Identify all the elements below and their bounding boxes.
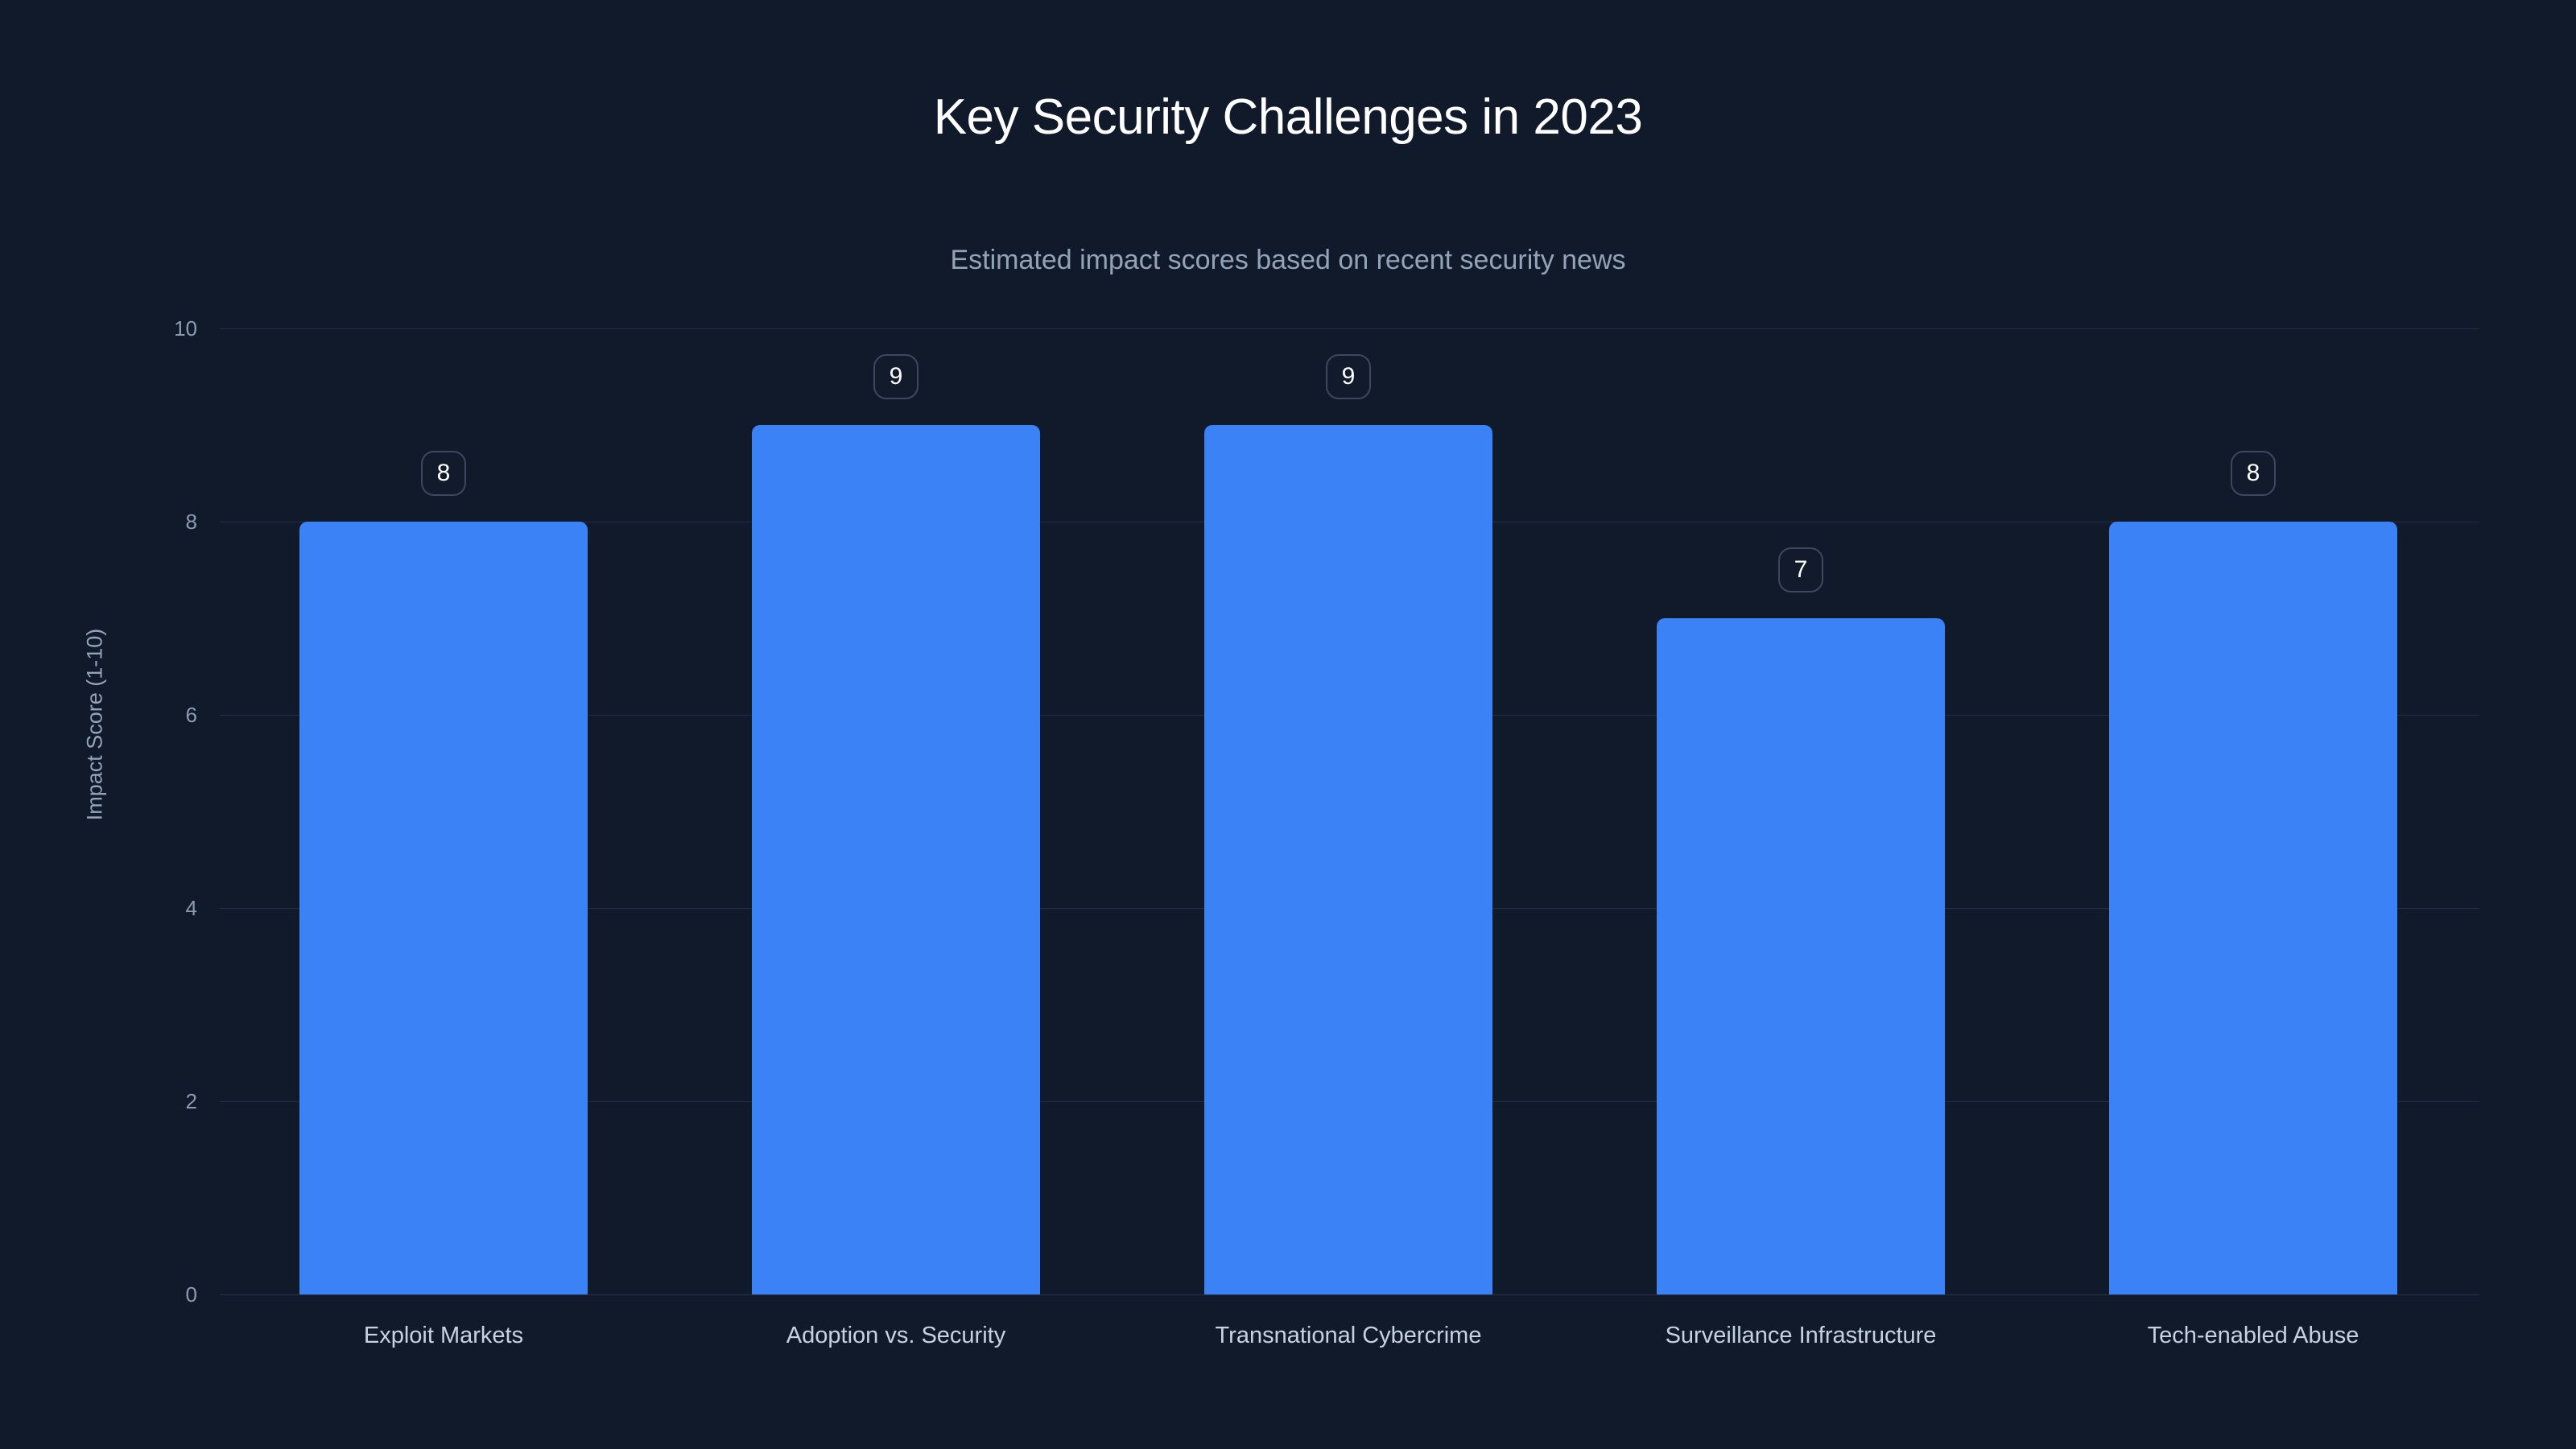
- x-tick-label: Tech-enabled Abuse: [2148, 1324, 2359, 1348]
- bar[interactable]: [1204, 425, 1492, 1294]
- bar[interactable]: [299, 522, 588, 1294]
- chart-title: Key Security Challenges in 2023: [0, 90, 2576, 145]
- y-tick-label: 2: [157, 1091, 197, 1112]
- bar-value-badge: 9: [873, 354, 919, 399]
- bar-value-badge: 7: [1778, 547, 1823, 592]
- y-tick-label: 6: [157, 704, 197, 725]
- bar[interactable]: [2109, 522, 2397, 1294]
- y-axis-title: Impact Score (1-10): [85, 629, 106, 821]
- x-tick-label: Exploit Markets: [364, 1324, 523, 1348]
- chart-canvas: Key Security Challenges in 2023 Estimate…: [0, 0, 2576, 1449]
- chart-subtitle: Estimated impact scores based on recent …: [0, 246, 2576, 275]
- x-tick-label: Adoption vs. Security: [786, 1324, 1005, 1348]
- plot-area: [220, 328, 2479, 1294]
- bar-value-badge: 9: [1326, 354, 1371, 399]
- y-tick-label: 8: [157, 511, 197, 532]
- x-tick-label: Surveillance Infrastructure: [1666, 1324, 1937, 1348]
- y-tick-label: 10: [157, 318, 197, 339]
- y-tick-label: 0: [157, 1284, 197, 1305]
- bar[interactable]: [1657, 618, 1945, 1294]
- x-tick-label: Transnational Cybercrime: [1216, 1324, 1482, 1348]
- gridline: [220, 328, 2479, 329]
- bar-value-badge: 8: [2231, 451, 2276, 496]
- bar[interactable]: [752, 425, 1040, 1294]
- gridline: [220, 1294, 2479, 1295]
- y-tick-label: 4: [157, 898, 197, 919]
- bar-value-badge: 8: [421, 451, 466, 496]
